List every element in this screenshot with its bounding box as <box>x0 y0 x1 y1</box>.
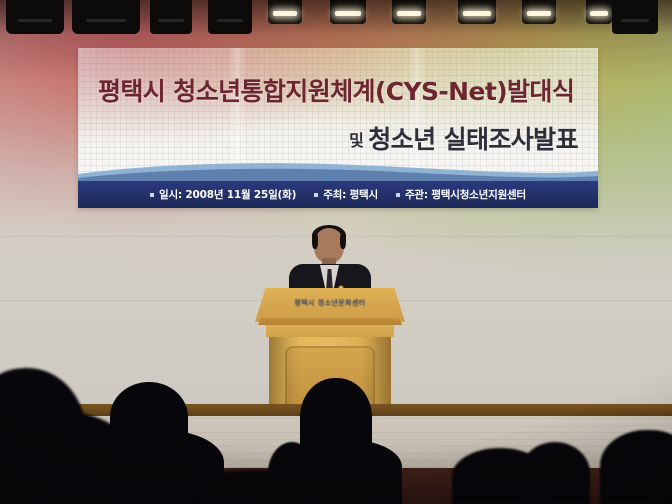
photo-scene: 평택시 청소년통합지원체계(CYS-Net)발대식 및청소년 실태조사발표 일시… <box>0 0 672 504</box>
square-bullet-icon <box>396 193 400 197</box>
audience-head <box>520 442 590 504</box>
podium-lip <box>258 318 402 325</box>
banner-footer-item-label: 주최: 평택시 <box>323 187 378 202</box>
stage-light-fixture <box>208 0 252 34</box>
audience-head <box>600 430 672 504</box>
stage-light-fixture <box>6 0 64 34</box>
podium-placard-text: 평택시 청소년문화센터 <box>255 298 405 308</box>
square-bullet-icon <box>150 193 154 197</box>
stage-light-fixture <box>72 0 140 34</box>
stage-light-fixture <box>330 0 366 24</box>
event-banner: 평택시 청소년통합지원체계(CYS-Net)발대식 및청소년 실태조사발표 일시… <box>78 48 598 208</box>
stage-light-fixture <box>392 0 426 24</box>
banner-footer-items: 일시: 2008년 11월 25일(화)주최: 평택시주관: 평택시청소년지원센… <box>78 181 598 208</box>
banner-title-line-1: 평택시 청소년통합지원체계(CYS-Net)발대식 <box>98 72 578 108</box>
stage-light-fixture <box>522 0 556 24</box>
stage-light-fixture <box>268 0 302 24</box>
audience-shoulders <box>196 470 316 504</box>
banner-title-conjunction: 및 <box>349 131 363 150</box>
speaker-hair-side-right <box>340 232 346 249</box>
banner-footer-bar: 일시: 2008년 11월 25일(화)주최: 평택시주관: 평택시청소년지원센… <box>78 181 598 208</box>
banner-footer-item-label: 주관: 평택시청소년지원센터 <box>405 187 526 202</box>
stage-light-fixture <box>612 0 658 34</box>
stage-light-fixture <box>458 0 496 24</box>
banner-footer-item-label: 일시: 2008년 11월 25일(화) <box>159 187 296 202</box>
podium-top: 평택시 청소년문화센터 <box>255 288 405 322</box>
square-bullet-icon <box>314 193 318 197</box>
stage-light-fixture <box>150 0 192 34</box>
speaker-hair-side-left <box>312 232 318 249</box>
banner-footer-item: 주관: 평택시청소년지원센터 <box>396 187 526 202</box>
banner-wave-band <box>78 160 598 182</box>
banner-footer-item: 주최: 평택시 <box>314 187 378 202</box>
banner-title-line-2-text: 청소년 실태조사발표 <box>368 125 578 154</box>
stage-light-fixture <box>586 0 612 24</box>
banner-footer-item: 일시: 2008년 11월 25일(화) <box>150 187 296 202</box>
banner-title-line-2: 및청소년 실태조사발표 <box>98 120 578 156</box>
podium-midband <box>266 325 394 337</box>
